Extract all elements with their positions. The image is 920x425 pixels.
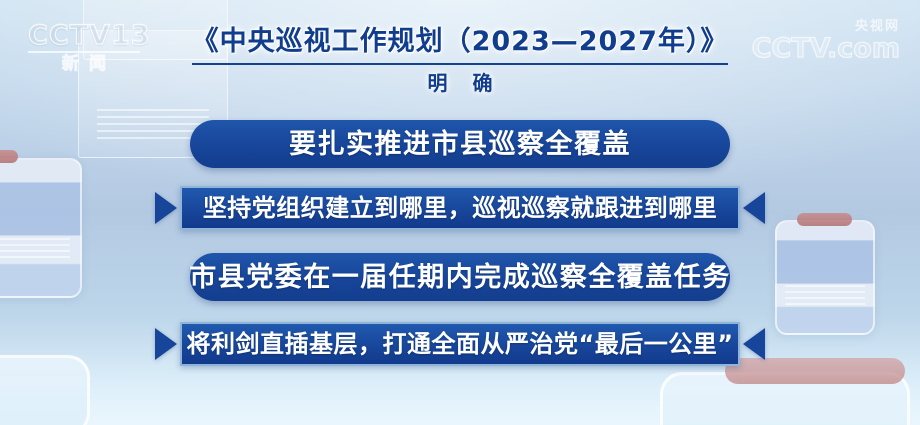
arrow-right-icon [155, 192, 177, 224]
banner-arrow-2-box: 将利剑直插基层，打通全面从严治党“最后一公里” [180, 322, 740, 366]
banner-pill-1: 要扎实推进市县巡察全覆盖 [190, 120, 730, 168]
banner-list: 要扎实推进市县巡察全覆盖 坚持党组织建立到哪里，巡视巡察就跟进到哪里 市县党委在… [0, 0, 920, 425]
broadcast-graphic: CCTV13 新闻 央视网 CCTV.com 《中央巡视工作规划（2023—20… [0, 0, 920, 425]
arrow-left-icon [743, 328, 765, 360]
banner-pill-2: 市县党委在一届任期内完成巡察全覆盖任务 [190, 253, 730, 301]
banner-pill-2-text: 市县党委在一届任期内完成巡察全覆盖任务 [189, 264, 731, 291]
banner-arrow-1-text: 坚持党组织建立到哪里，巡视巡察就跟进到哪里 [203, 196, 718, 220]
banner-pill-1-text: 要扎实推进市县巡察全覆盖 [289, 131, 631, 158]
banner-arrow-1-box: 坚持党组织建立到哪里，巡视巡察就跟进到哪里 [180, 186, 740, 230]
banner-arrow-2: 将利剑直插基层，打通全面从严治党“最后一公里” [155, 322, 765, 366]
arrow-left-icon [743, 192, 765, 224]
banner-arrow-2-text: 将利剑直插基层，打通全面从严治党“最后一公里” [186, 332, 733, 356]
arrow-right-icon [155, 328, 177, 360]
banner-arrow-1: 坚持党组织建立到哪里，巡视巡察就跟进到哪里 [155, 186, 765, 230]
